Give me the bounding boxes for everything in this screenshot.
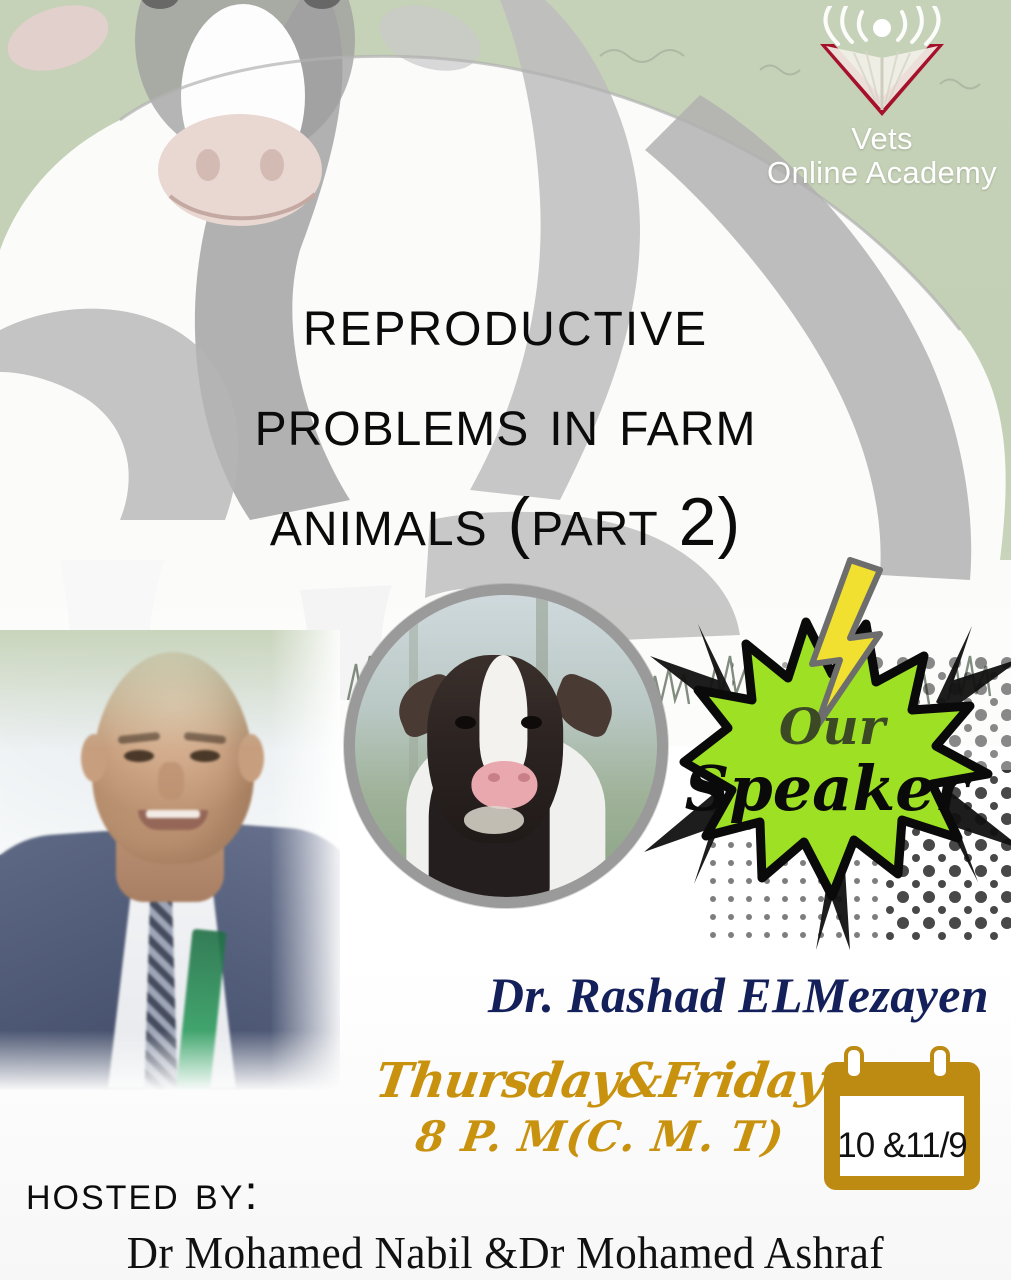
calf-muzzle xyxy=(471,761,537,809)
portrait-fade-bottom xyxy=(0,1030,340,1090)
calendar-dates: 10 &11/9 xyxy=(818,1126,986,1166)
hosted-by-names: Dr Mohamed Nabil &Dr Mohamed Ashraf xyxy=(30,1226,980,1279)
badge-line-2: Speaker xyxy=(685,752,972,825)
badge-line-1: Our xyxy=(779,697,889,756)
schedule-time: 8 P. M(C. M. T) xyxy=(346,1110,854,1164)
our-speaker-badge: Our Speaker xyxy=(636,552,1011,952)
calf-face-blaze xyxy=(479,655,527,776)
logo-text-line2: Online Academy xyxy=(762,156,1002,190)
hosted-by-label: Hosted By: xyxy=(26,1166,260,1221)
schedule-days: Thursday&Friday xyxy=(346,1052,854,1110)
calendar-icon: 10 &11/9 xyxy=(818,1044,986,1196)
poster-title: Reproductive problems in farm animals (p… xyxy=(0,272,1011,572)
brand-logo: Vets Online Academy xyxy=(762,6,1002,186)
title-line-2: problems in farm xyxy=(0,372,1011,472)
book-broadcast-v-logo-icon xyxy=(762,6,1002,122)
event-poster: Vets Online Academy Reproductive problem… xyxy=(0,0,1011,1280)
calf-photo-inner xyxy=(355,595,657,897)
calf-eye-left xyxy=(455,716,476,730)
holstein-calf-photo xyxy=(344,584,668,908)
logo-text-line1: Vets xyxy=(762,122,1002,156)
calf-chin-patch xyxy=(464,806,524,833)
title-line-1: Reproductive xyxy=(0,272,1011,372)
speaker-name: Dr. Rashad ELMezayen xyxy=(0,966,1011,1024)
schedule-block: Thursday&Friday 8 P. M(C. M. T) xyxy=(350,1052,850,1164)
